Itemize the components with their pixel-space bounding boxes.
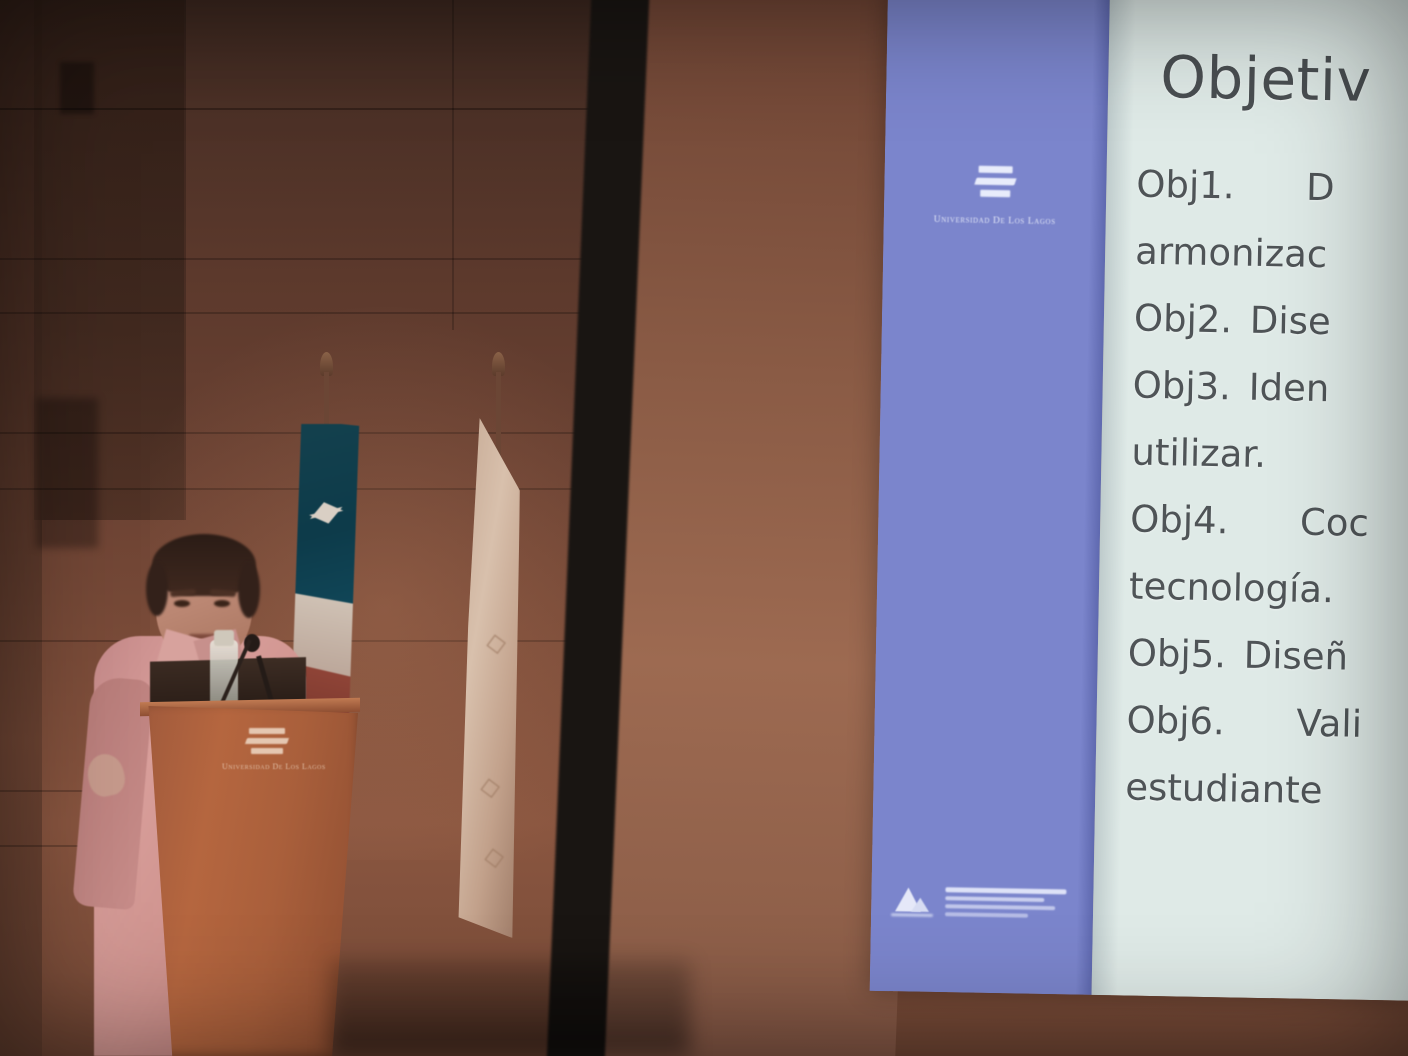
objective-text: D (1306, 166, 1335, 210)
flag-emblem-icon: ◇ (478, 771, 502, 803)
flag-emblem-icon: ◇ (484, 627, 508, 659)
three-bars-logo-icon (975, 166, 1016, 203)
podium-logo-text: Universidad De Los Lagos (222, 762, 312, 771)
ministry-mountain-logo-icon (889, 885, 936, 920)
objective-item-3-cont: utilizar. (1131, 427, 1408, 488)
objective-item-6-cont: estudiante (1125, 761, 1408, 822)
objective-item-4-cont: tecnología. (1129, 561, 1408, 622)
objective-item-5: Obj5. Diseñ (1127, 628, 1408, 689)
wall-seam (0, 312, 660, 314)
water-bottle-cap (214, 630, 234, 646)
conference-photo-scene: Universidad De Los Lagos Objetiv Obj1. (0, 0, 1408, 1056)
objective-label: Obj5. (1127, 632, 1226, 677)
podium-university-logo: Universidad De Los Lagos (222, 728, 312, 771)
objective-label: Obj1. (1136, 163, 1235, 208)
objective-label: Obj3. (1132, 364, 1231, 409)
university-logo: Universidad De Los Lagos (884, 164, 1107, 228)
objective-label: Obj4. (1130, 498, 1229, 543)
objective-item-4: Obj4. Coc (1130, 494, 1408, 555)
objective-label: Obj6. (1126, 698, 1225, 743)
speaker-hair-side (238, 562, 260, 618)
objective-text-continued: estudiante (1125, 765, 1323, 812)
slide-content-area: Objetiv Obj1. D armonizac Obj2. Dise Obj… (1092, 0, 1408, 1001)
objective-text: Vali (1296, 702, 1362, 746)
university-logo-text: Universidad De Los Lagos (884, 214, 1106, 228)
projected-slide: Universidad De Los Lagos Objetiv Obj1. (870, 0, 1408, 1001)
ministry-logo-wordmark (945, 887, 1084, 923)
speaker-eye (174, 600, 190, 607)
wall-vertical-seam (452, 0, 454, 330)
wall-seam (0, 108, 660, 110)
objective-text-continued: armonizac (1135, 230, 1328, 277)
objective-text-continued: utilizar. (1131, 431, 1266, 476)
objective-item-1-cont: armonizac (1135, 226, 1408, 287)
objective-text-continued: tecnología. (1129, 565, 1335, 612)
objective-label: Obj2. (1134, 297, 1233, 342)
slide-title: Objetiv (1160, 43, 1372, 115)
objective-item-6: Obj6. Vali (1126, 694, 1408, 755)
three-bars-logo-icon (251, 748, 283, 754)
slide-left-rail: Universidad De Los Lagos (870, 0, 1110, 995)
objective-item-1: Obj1. D (1136, 159, 1408, 220)
objective-text: Coc (1300, 501, 1370, 545)
objective-item-2: Obj2. Dise (1133, 293, 1408, 354)
wall-vertical-seam (184, 0, 186, 520)
objective-item-3: Obj3. Iden (1132, 360, 1408, 421)
speaker-eye (214, 600, 230, 607)
objective-text: Diseñ (1243, 634, 1348, 679)
wall-recess-mark (60, 62, 94, 114)
objective-text: Iden (1248, 366, 1329, 410)
flag-emblem-icon: ◇ (482, 841, 506, 873)
three-bars-logo-icon (249, 728, 285, 734)
wall-dark-opening (36, 398, 98, 548)
wall-seam (0, 258, 660, 260)
objective-text: Dise (1250, 299, 1332, 343)
objectives-list: Obj1. D armonizac Obj2. Dise Obj3. Iden … (1125, 159, 1408, 839)
speaker-hair-side (146, 562, 168, 616)
three-bars-logo-icon (245, 738, 289, 744)
floor-shadow (330, 960, 690, 1056)
ministry-logo (889, 885, 1084, 923)
